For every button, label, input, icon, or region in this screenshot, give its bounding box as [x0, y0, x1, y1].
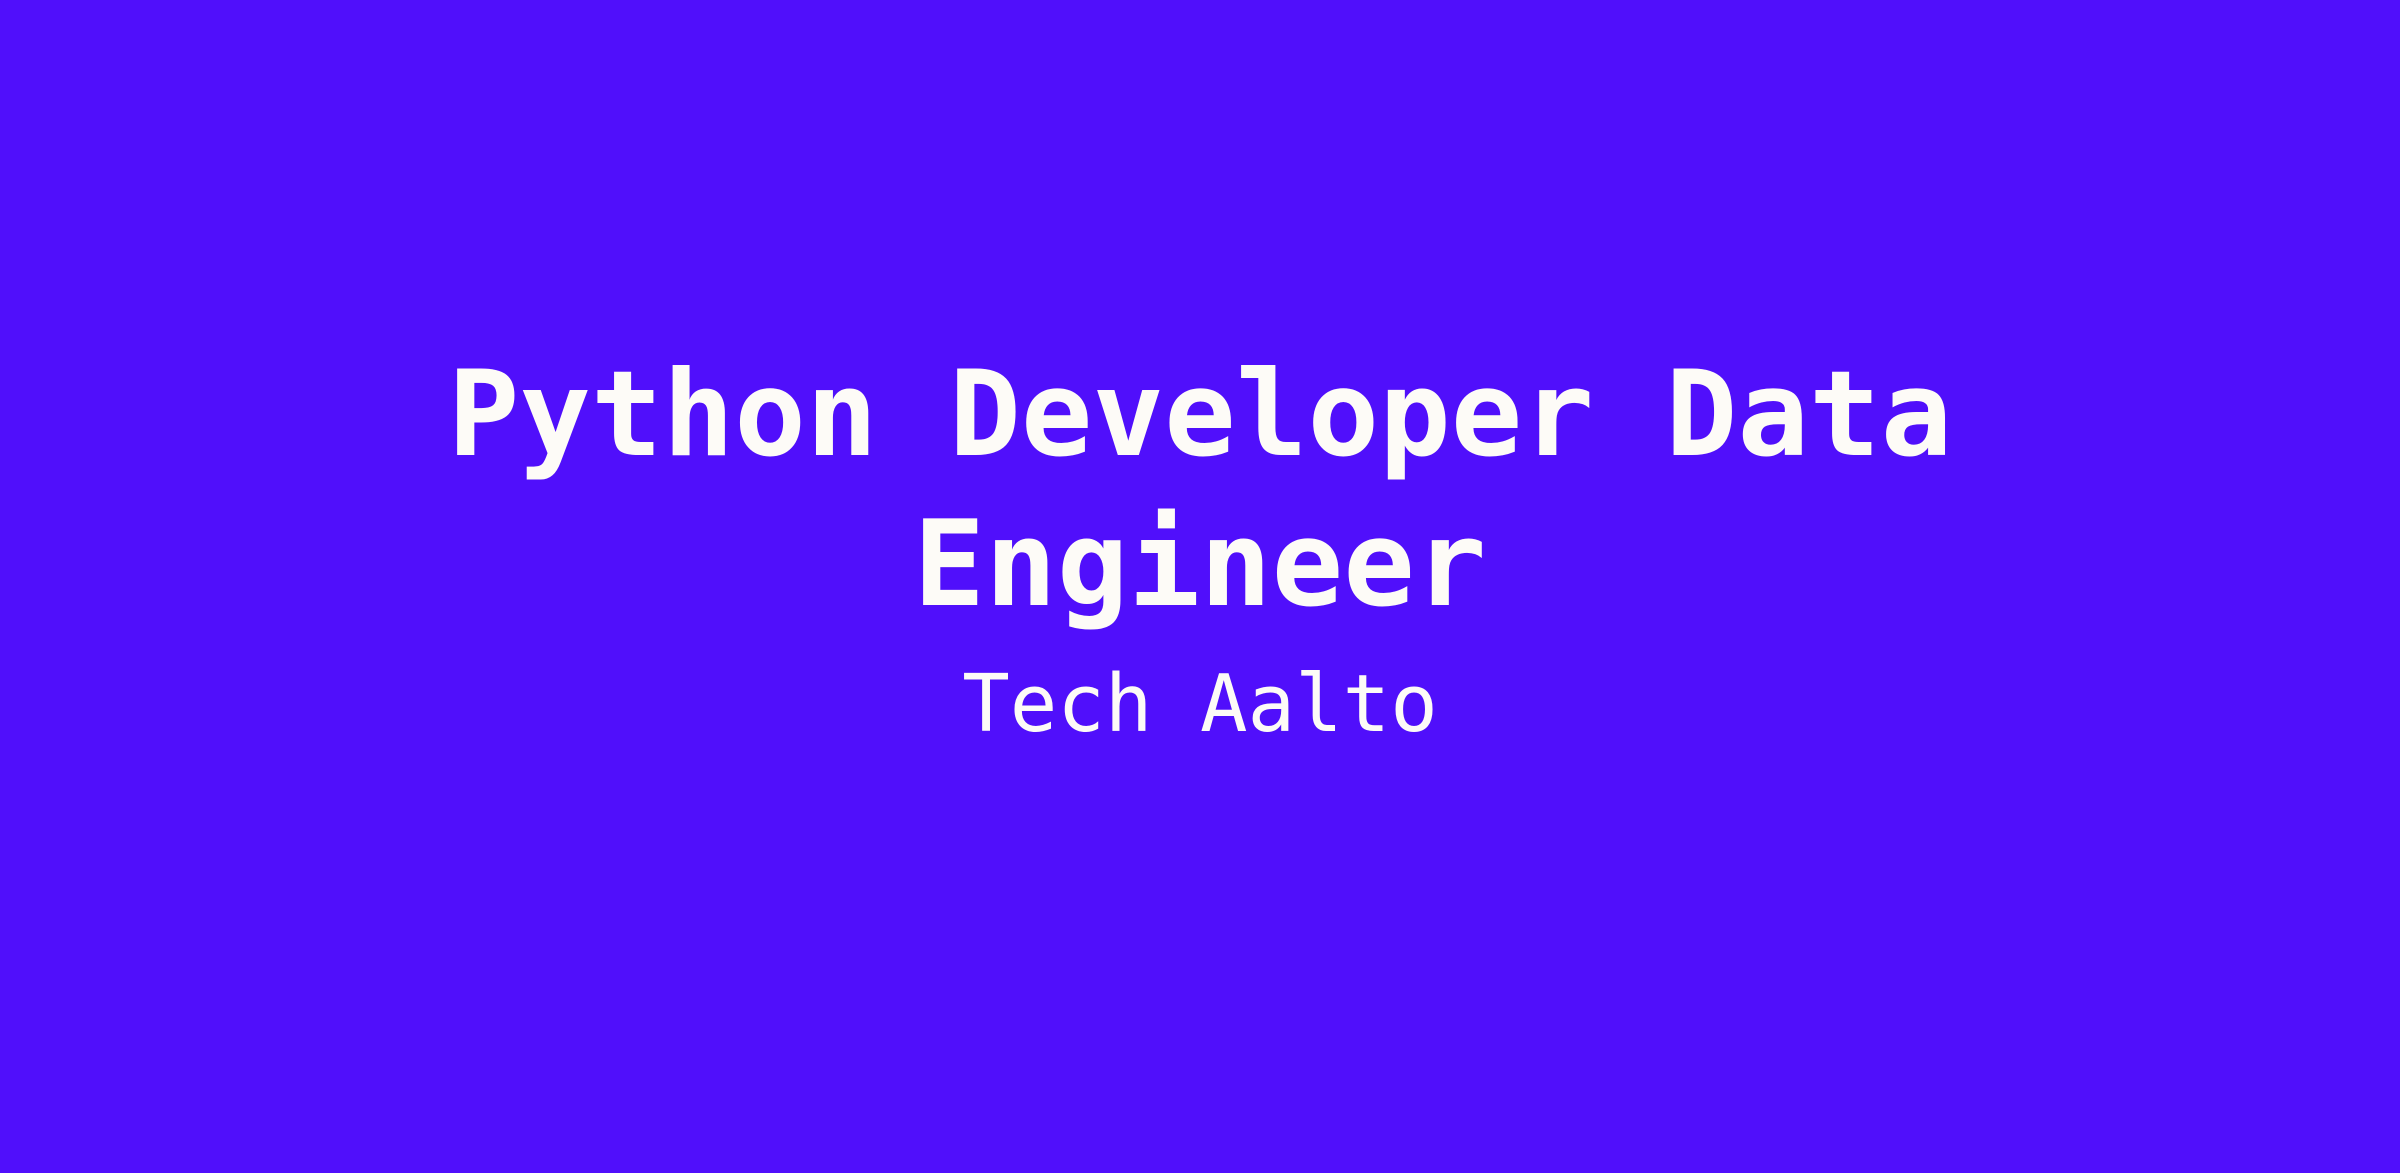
- company-name: Tech Aalto: [430, 652, 1970, 756]
- job-banner-content: Python Developer Data Engineer Tech Aalt…: [430, 340, 1970, 756]
- job-title: Python Developer Data Engineer: [430, 340, 1970, 640]
- job-banner-card: Python Developer Data Engineer Tech Aalt…: [0, 0, 2400, 1173]
